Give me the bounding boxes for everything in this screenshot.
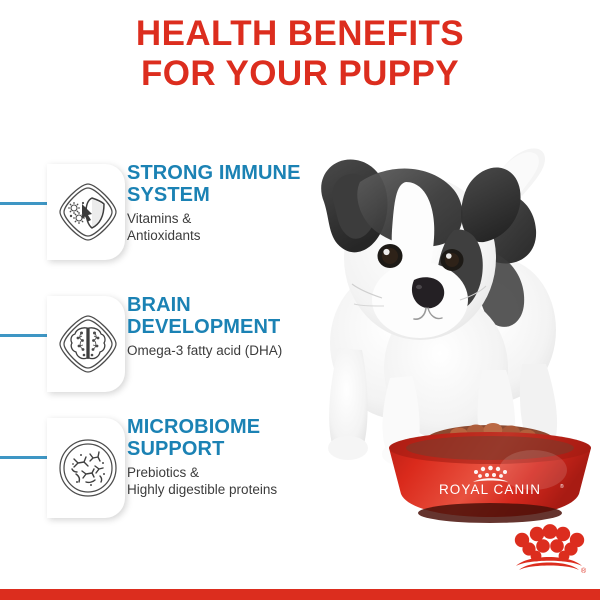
benefit-title: STRONG IMMUNE SYSTEM	[127, 162, 322, 206]
title-line-2: FOR YOUR PUPPY	[0, 54, 600, 94]
benefit-subtitle-line-1: Prebiotics &	[127, 465, 322, 482]
benefit-subtitle-line-2: Highly digestible proteins	[127, 482, 322, 499]
benefit-item-microbiome: MICROBIOME SUPPORT Prebiotics & Highly d…	[0, 410, 320, 522]
benefit-item-brain: BRAIN DEVELOPMENT Omega-3 fatty acid (DH…	[0, 288, 320, 400]
brain-icon	[58, 314, 118, 374]
svg-text:ROYAL CANIN: ROYAL CANIN	[439, 482, 541, 497]
svg-text:®: ®	[560, 483, 564, 490]
benefit-subtitle: Prebiotics & Highly digestible proteins	[127, 465, 322, 498]
benefit-text: STRONG IMMUNE SYSTEM Vitamins & Antioxid…	[127, 162, 322, 244]
connector-line	[0, 334, 52, 337]
promo-card: HEALTH BENEFITS FOR YOUR PUPPY	[0, 0, 600, 600]
benefit-subtitle-line-1: Omega-3 fatty acid (DHA)	[127, 343, 322, 360]
food-bowl: ROYAL CANIN ®	[383, 418, 597, 523]
benefit-text: BRAIN DEVELOPMENT Omega-3 fatty acid (DH…	[127, 294, 322, 360]
benefit-text: MICROBIOME SUPPORT Prebiotics & Highly d…	[127, 416, 322, 498]
microbiome-bacteria-icon	[58, 438, 118, 498]
connector-line	[0, 456, 52, 459]
connector-line	[0, 202, 52, 205]
title-line-1: HEALTH BENEFITS	[136, 14, 464, 53]
page-title: HEALTH BENEFITS FOR YOUR PUPPY	[0, 14, 600, 94]
benefit-subtitle: Omega-3 fatty acid (DHA)	[127, 343, 322, 360]
royal-canin-crown-icon: ®	[510, 521, 588, 577]
benefit-item-immune: STRONG IMMUNE SYSTEM Vitamins & Antioxid…	[0, 156, 320, 268]
immune-shield-icon	[58, 182, 118, 242]
svg-text:®: ®	[581, 567, 587, 575]
benefit-title: BRAIN DEVELOPMENT	[127, 294, 322, 338]
footer-bar	[0, 589, 600, 600]
benefit-subtitle: Vitamins & Antioxidants	[127, 211, 322, 244]
benefit-subtitle-line-2: Antioxidants	[127, 228, 322, 245]
benefit-title: MICROBIOME SUPPORT	[127, 416, 322, 460]
benefit-subtitle-line-1: Vitamins &	[127, 211, 322, 228]
